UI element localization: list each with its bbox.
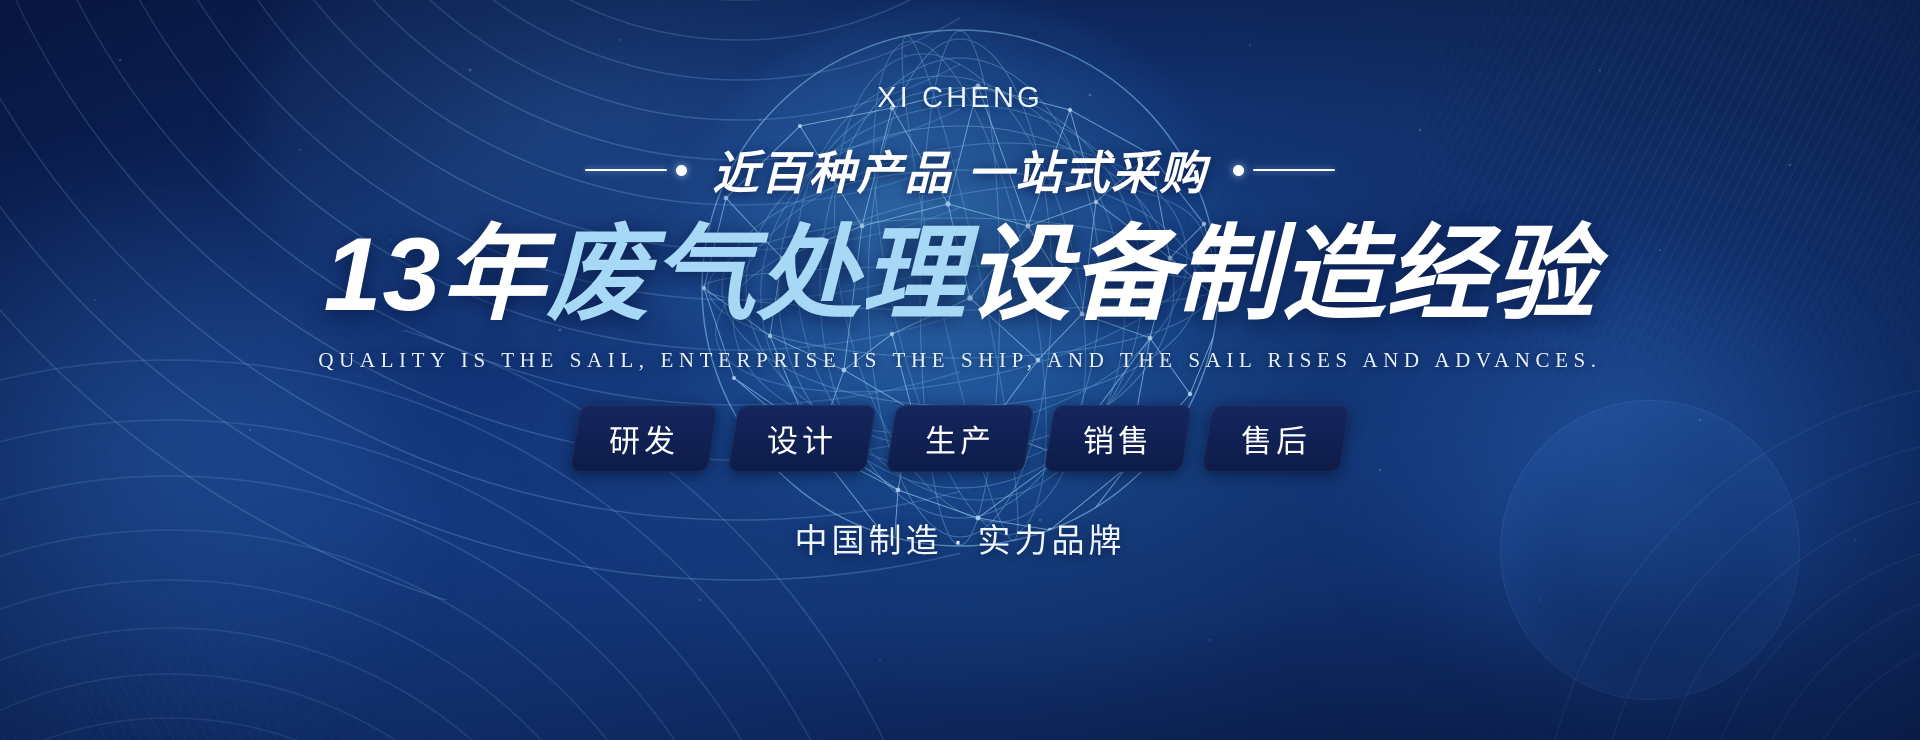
banner-content: XI CHENG 近百种产品 一站式采购 13年废气处理设备制造经验 QUALI… [0, 0, 1920, 740]
headline-part-3: 设备制造经验 [966, 217, 1596, 333]
page-title: 13年废气处理设备制造经验 [324, 209, 1597, 342]
footer-slogan-left: 中国制造 [795, 522, 943, 559]
subline-text: 近百种产品 一站式采购 [713, 137, 1208, 203]
tagline-en: QUALITY IS THE SAIL, ENTERPRISE IS THE S… [318, 348, 1601, 373]
rule-line-left [585, 169, 667, 171]
left-rule-decoration [585, 165, 687, 176]
headline-part-highlight: 废气处理 [546, 217, 966, 333]
service-tag-list: 研发 设计 生产 销售 售后 [575, 405, 1345, 472]
rule-dot-right [1233, 165, 1244, 176]
service-tag-sales-label: 销售 [1083, 416, 1153, 461]
service-tag-design[interactable]: 设计 [728, 405, 877, 472]
headline-part-1: 13年 [324, 217, 547, 333]
right-rule-decoration [1233, 165, 1335, 176]
footer-slogan-separator: · [943, 522, 978, 559]
service-tag-rd[interactable]: 研发 [570, 405, 719, 472]
service-tag-sales[interactable]: 销售 [1044, 405, 1193, 472]
service-tag-production[interactable]: 生产 [886, 405, 1035, 472]
service-tag-production-label: 生产 [925, 416, 995, 461]
footer-slogan-right: 实力品牌 [978, 522, 1126, 559]
rule-line-right [1253, 169, 1335, 171]
service-tag-rd-label: 研发 [609, 416, 679, 461]
hero-banner: XI CHENG 近百种产品 一站式采购 13年废气处理设备制造经验 QUALI… [0, 0, 1920, 740]
service-tag-aftersales[interactable]: 售后 [1202, 405, 1351, 472]
brand-name-en: XI CHENG [877, 82, 1043, 115]
service-tag-design-label: 设计 [767, 416, 837, 461]
footer-slogan: 中国制造·实力品牌 [795, 514, 1126, 562]
service-tag-aftersales-label: 售后 [1241, 416, 1311, 461]
subline-row: 近百种产品 一站式采购 [585, 137, 1336, 203]
rule-dot-left [676, 165, 687, 176]
